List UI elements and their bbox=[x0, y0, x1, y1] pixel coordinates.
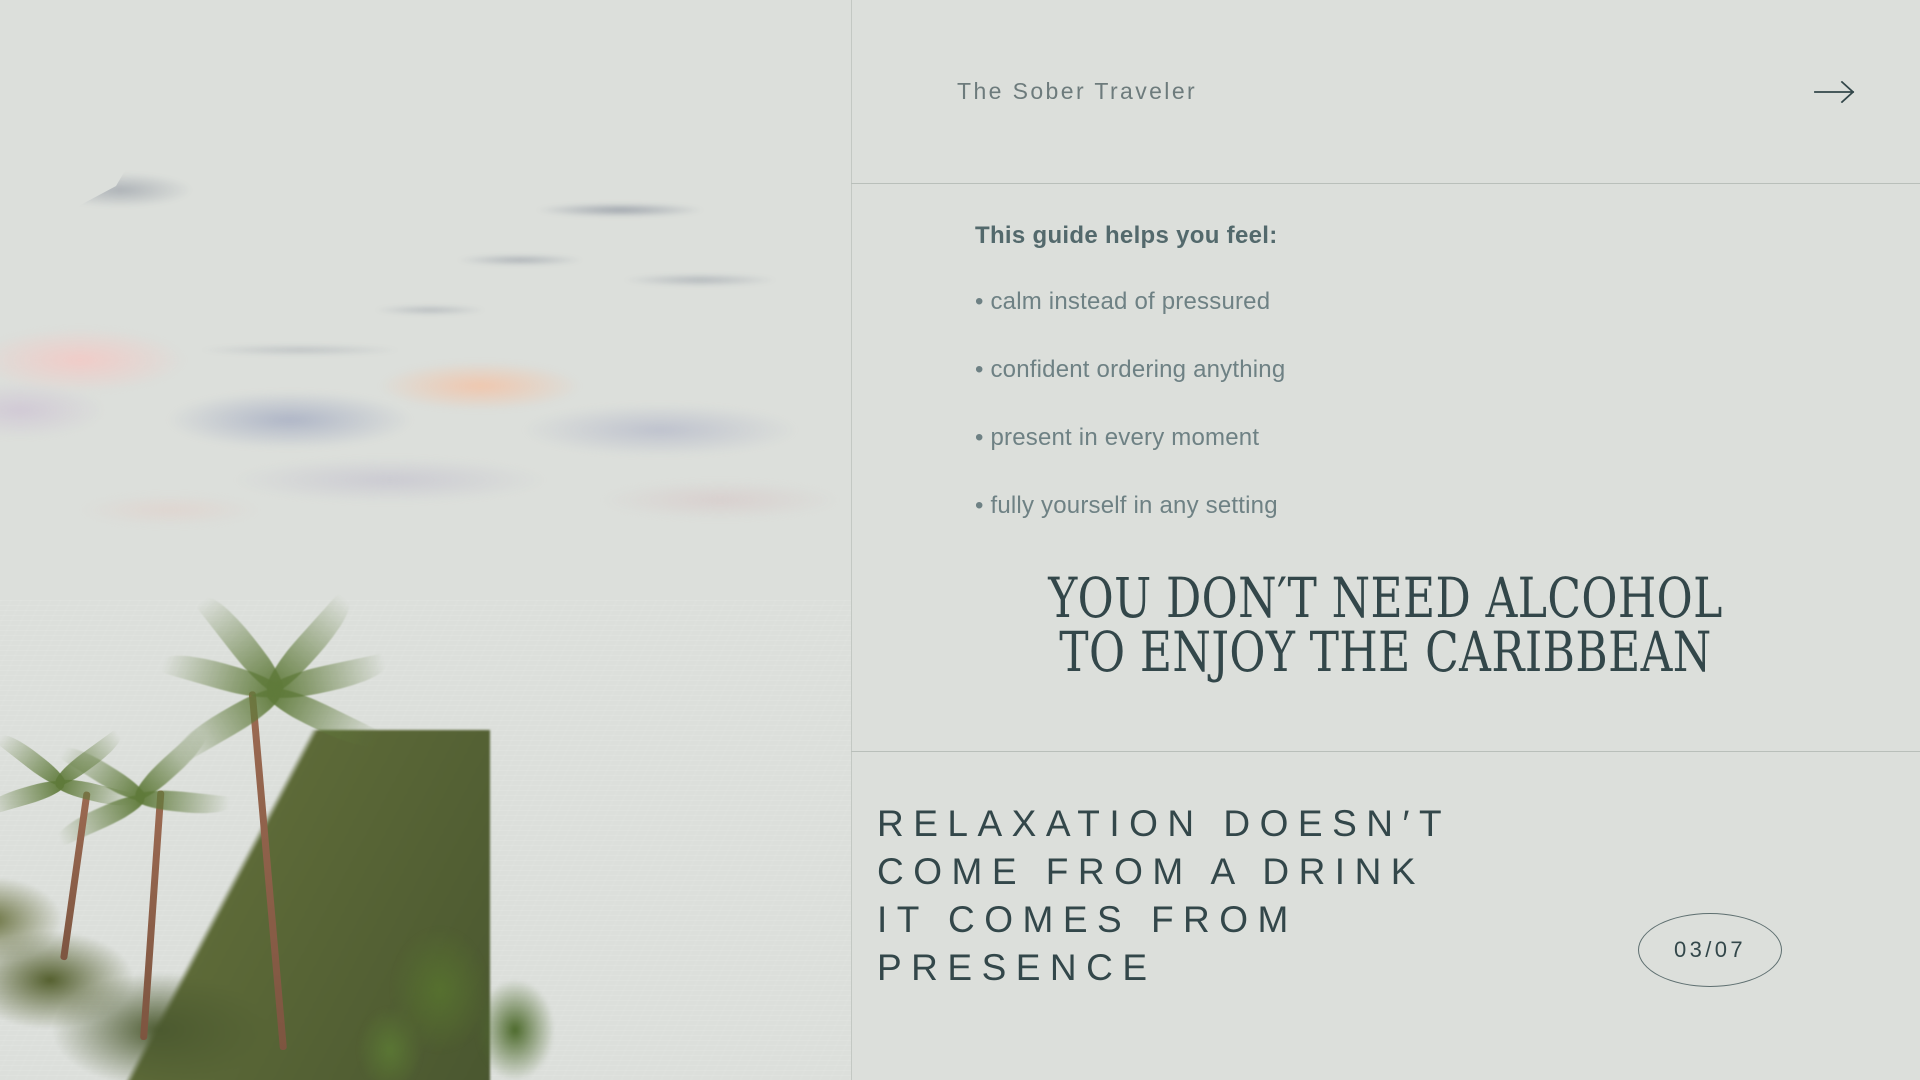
quote-divider bbox=[851, 751, 1920, 752]
benefit-item: • present in every moment bbox=[975, 424, 1835, 452]
benefit-item: • calm instead of pressured bbox=[975, 288, 1835, 316]
benefit-item: • confident ordering anything bbox=[975, 356, 1835, 384]
photo-arch-clip bbox=[0, 0, 851, 1080]
arrow-right-icon bbox=[1814, 81, 1856, 103]
header-divider bbox=[851, 183, 1920, 184]
benefits-title: This guide helps you feel: bbox=[975, 222, 1835, 250]
coastal-sunset-photo bbox=[0, 0, 851, 1080]
benefits-block: This guide helps you feel: • calm instea… bbox=[975, 222, 1835, 520]
pull-quote: RELAXATION DOESN′T COME FROM A DRINK IT … bbox=[877, 800, 1657, 992]
quote-line-4: PRESENCE bbox=[877, 944, 1657, 992]
quote-line-2: COME FROM A DRINK bbox=[877, 848, 1657, 896]
quote-line-3: IT COMES FROM bbox=[877, 896, 1657, 944]
quote-line-1: RELAXATION DOESN′T bbox=[877, 800, 1657, 848]
palm-tree bbox=[0, 730, 160, 960]
headline-line-1: YOU DON′T NEED ALCOHOL bbox=[958, 572, 1813, 626]
headline-line-2: TO ENJOY THE CARIBBEAN bbox=[958, 626, 1813, 680]
photo-panel bbox=[0, 0, 851, 1080]
brand-title: The Sober Traveler bbox=[957, 78, 1197, 105]
display-headline: YOU DON′T NEED ALCOHOL TO ENJOY THE CARI… bbox=[958, 572, 1813, 680]
benefit-item: • fully yourself in any setting bbox=[975, 492, 1835, 520]
page-indicator-badge: 03/07 bbox=[1638, 913, 1782, 987]
slide-canvas: The Sober Traveler This guide helps you … bbox=[0, 0, 1920, 1080]
header-bar: The Sober Traveler bbox=[851, 0, 1920, 183]
next-slide-button[interactable] bbox=[1806, 72, 1864, 112]
sunset-cloud-bank bbox=[0, 300, 851, 560]
